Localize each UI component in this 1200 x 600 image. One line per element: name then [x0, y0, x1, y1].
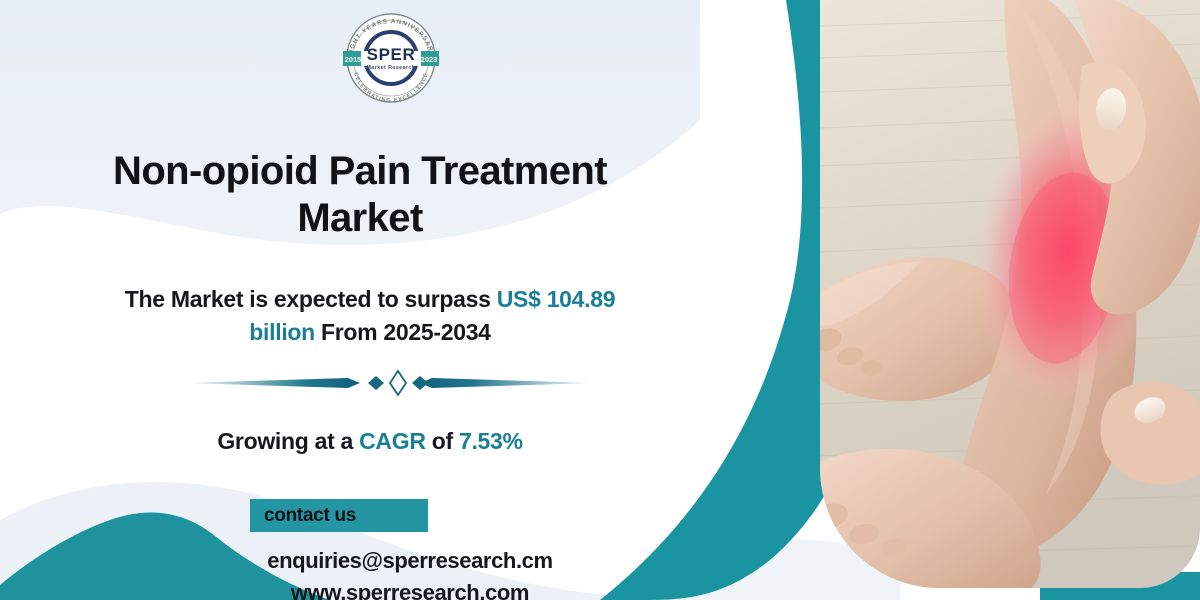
cagr-statement: Growing at a CAGR of 7.53% — [110, 428, 630, 455]
value-currency: US$ — [497, 286, 541, 312]
logo-year-right: 2023 — [421, 55, 438, 64]
cagr-middle: of — [426, 428, 459, 454]
market-value-statement: The Market is expected to surpass US$ 10… — [100, 283, 640, 348]
divider-diamond-left — [368, 376, 384, 390]
logo-year-left: 2015 — [345, 55, 362, 64]
cagr-label: CAGR — [359, 428, 426, 454]
marketing-banner: EIGHT YEARS ANNIVERSARY CELEBRATING EXCE… — [0, 0, 1200, 600]
contact-us-button[interactable]: contact us — [250, 499, 428, 532]
logo-secondary-text: Market Research — [366, 65, 415, 71]
subhead-suffix: From 2025-2034 — [315, 319, 491, 345]
page-title: Non-opioid Pain Treatment Market — [40, 148, 680, 242]
divider-left-flourish — [184, 378, 360, 388]
contact-us-label: contact us — [264, 505, 356, 527]
hero-photo — [820, 0, 1200, 588]
divider-diamond-right — [412, 376, 428, 390]
ornamental-divider — [182, 366, 598, 400]
content-column: EIGHT YEARS ANNIVERSARY CELEBRATING EXCE… — [0, 0, 700, 600]
divider-right-flourish — [420, 378, 596, 388]
headline-line-1: Non-opioid Pain Treatment — [113, 149, 607, 193]
subhead-prefix: The Market is expected to surpass — [125, 286, 497, 312]
contact-website[interactable]: www.sperresearch.com — [160, 580, 660, 600]
brand-logo[interactable]: EIGHT YEARS ANNIVERSARY CELEBRATING EXCE… — [333, 8, 449, 106]
cagr-value: 7.53% — [459, 428, 523, 454]
cagr-prefix: Growing at a — [217, 428, 359, 454]
contact-email[interactable]: enquiries@sperresearch.cm — [160, 548, 660, 574]
divider-diamond-center — [390, 371, 406, 395]
logo-primary-text: SPER — [367, 45, 416, 64]
headline-line-2: Market — [297, 196, 422, 240]
